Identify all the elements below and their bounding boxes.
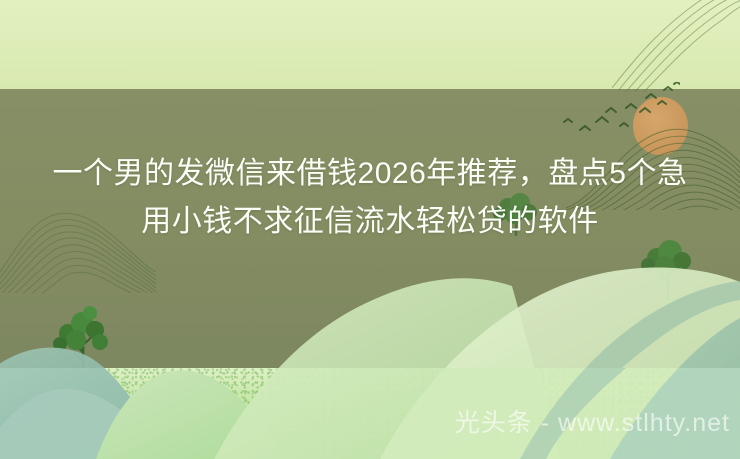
poster-canvas: 一个男的发微信来借钱2026年推荐，盘点5个急用小钱不求征信流水轻松贷的软件 光… <box>0 0 740 459</box>
watermark: 光头条 - www.stlhty.net <box>0 406 740 440</box>
page-title: 一个男的发微信来借钱2026年推荐，盘点5个急用小钱不求征信流水轻松贷的软件 <box>0 150 740 246</box>
